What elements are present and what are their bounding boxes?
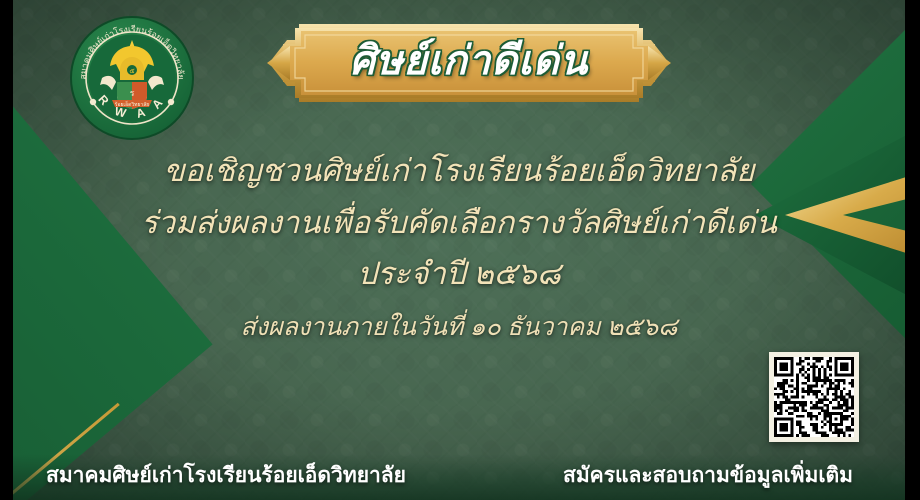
svg-text:๕: ๕ — [129, 67, 134, 75]
association-logo: สมาคมศิษย์เก่าโรงเรียนร้อยเอ็ดวิทยาลัย R… — [68, 14, 196, 142]
body-line-4-deadline: ส่งผลงานภายในวันที่ ๑๐ ธันวาคม ๒๕๖๘ — [13, 311, 905, 345]
body-line-2: ร่วมส่งผลงานเพื่อรับคัดเลือกรางวัลศิษย์เ… — [13, 202, 905, 244]
poster-root: สมาคมศิษย์เก่าโรงเรียนร้อยเอ็ดวิทยาลัย R… — [0, 0, 920, 500]
body-copy: ขอเชิญชวนศิษย์เก่าโรงเรียนร้อยเอ็ดวิทยาล… — [13, 150, 905, 344]
body-line-3: ประจำปี ๒๕๖๘ — [13, 253, 905, 295]
banner-title: ศิษย์เก่าดีเด่น — [265, 22, 673, 104]
svg-text:ร: ร — [130, 88, 135, 98]
body-line-1: ขอเชิญชวนศิษย์เก่าโรงเรียนร้อยเอ็ดวิทยาล… — [13, 150, 905, 192]
title-ribbon: ศิษย์เก่าดีเด่น — [265, 22, 673, 104]
qr-code[interactable] — [769, 352, 859, 442]
svg-text:ร้อยเอ็ดวิทยาลัย: ร้อยเอ็ดวิทยาลัย — [114, 100, 149, 108]
poster-canvas: สมาคมศิษย์เก่าโรงเรียนร้อยเอ็ดวิทยาลัย R… — [13, 0, 905, 500]
footer-contact-caption: สมัครและสอบถามข้อมูลเพิ่มเติม — [563, 459, 853, 492]
footer-association-name: สมาคมศิษย์เก่าโรงเรียนร้อยเอ็ดวิทยาลัย — [46, 459, 406, 492]
